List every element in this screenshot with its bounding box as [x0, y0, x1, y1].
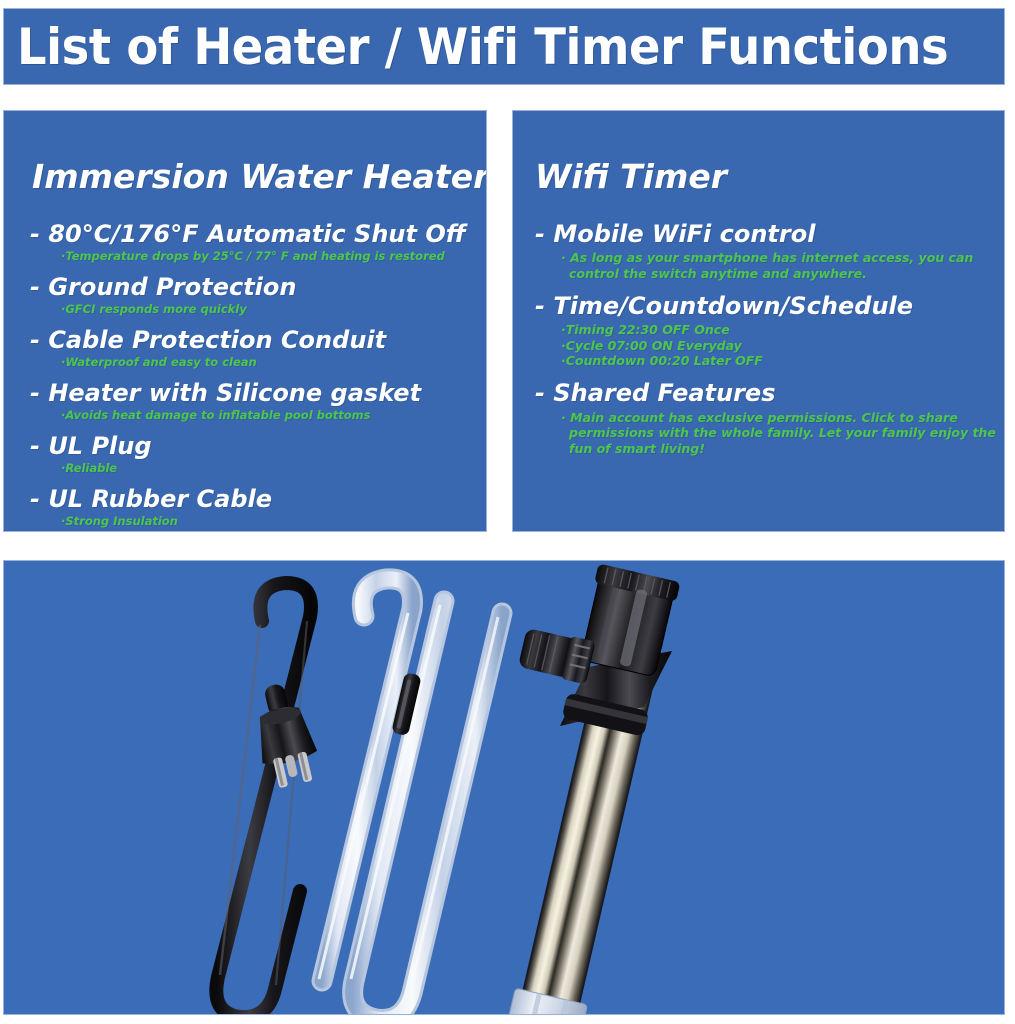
feature-subtext: · As long as your smartphone has interne…: [561, 250, 999, 281]
page-title-banner: List of Heater / Wifi Timer Functions: [3, 8, 1005, 85]
panel-heading-immersion-water-heater: Immersion Water Heater: [4, 138, 486, 193]
feature-subtext: ·Avoids heat damage to inflatable pool b…: [61, 408, 486, 422]
feature-subtext: · Main account has exclusive permissions…: [561, 410, 999, 457]
feature-subtext: ·GFCI responds more quickly: [61, 302, 486, 316]
feature-subtext: ·Countdown 00:20 Later OFF: [561, 353, 991, 369]
feature-title: - Mobile WiFi control: [535, 221, 1004, 249]
list-item: - UL Plug ·Reliable: [30, 433, 486, 476]
page-title: List of Heater / Wifi Timer Functions: [4, 22, 948, 72]
list-item: - Mobile WiFi control · As long as your …: [535, 221, 1004, 282]
list-item: - Ground Protection ·GFCI responds more …: [30, 274, 486, 317]
feature-title: - Time/Countdown/Schedule: [535, 293, 1004, 321]
feature-title: - 80°C/176°F Automatic Shut Off: [30, 221, 486, 249]
feature-subtext: ·Orrosion Resistance: [61, 529, 486, 532]
list-item: - Cable Protection Conduit ·Waterproof a…: [30, 327, 486, 370]
feature-subtext: ·Temperature drops by 25°C / 77° F and h…: [61, 249, 486, 263]
list-item: - UL Rubber Cable ·Strong Insulation ·Or…: [30, 486, 486, 532]
feature-subtext: ·Waterproof and easy to clean: [61, 355, 486, 369]
panel-immersion-water-heater: Immersion Water Heater - 80°C/176°F Auto…: [3, 110, 487, 532]
feature-title: - Ground Protection: [30, 274, 486, 302]
panel-heading-wifi-timer: Wifi Timer: [513, 138, 1004, 193]
list-item: - Heater with Silicone gasket ·Avoids he…: [30, 380, 486, 423]
feature-list-immersion-water-heater: - 80°C/176°F Automatic Shut Off ·Tempera…: [4, 221, 486, 532]
feature-title: - Shared Features: [535, 380, 1004, 408]
feature-title: - Cable Protection Conduit: [30, 327, 486, 355]
list-item: - 80°C/176°F Automatic Shut Off ·Tempera…: [30, 221, 486, 264]
feature-title: - Heater with Silicone gasket: [30, 380, 486, 408]
panel-wifi-timer: Wifi Timer - Mobile WiFi control · As lo…: [512, 110, 1005, 532]
feature-subtext: ·Timing 22:30 OFF Once: [561, 322, 991, 338]
product-photo-immersion-heater: [4, 561, 1004, 1014]
product-photo-panel: [3, 560, 1005, 1015]
list-item: - Shared Features · Main account has exc…: [535, 380, 1004, 456]
feature-title: - UL Rubber Cable: [30, 486, 486, 514]
feature-list-wifi-timer: - Mobile WiFi control · As long as your …: [513, 221, 1004, 457]
feature-subtext: ·Cycle 07:00 ON Everyday: [561, 338, 991, 354]
feature-subtext: ·Strong Insulation: [61, 514, 486, 528]
feature-title: - UL Plug: [30, 433, 486, 461]
list-item: - Time/Countdown/Schedule ·Timing 22:30 …: [535, 293, 1004, 369]
feature-subtext: ·Reliable: [61, 461, 486, 475]
